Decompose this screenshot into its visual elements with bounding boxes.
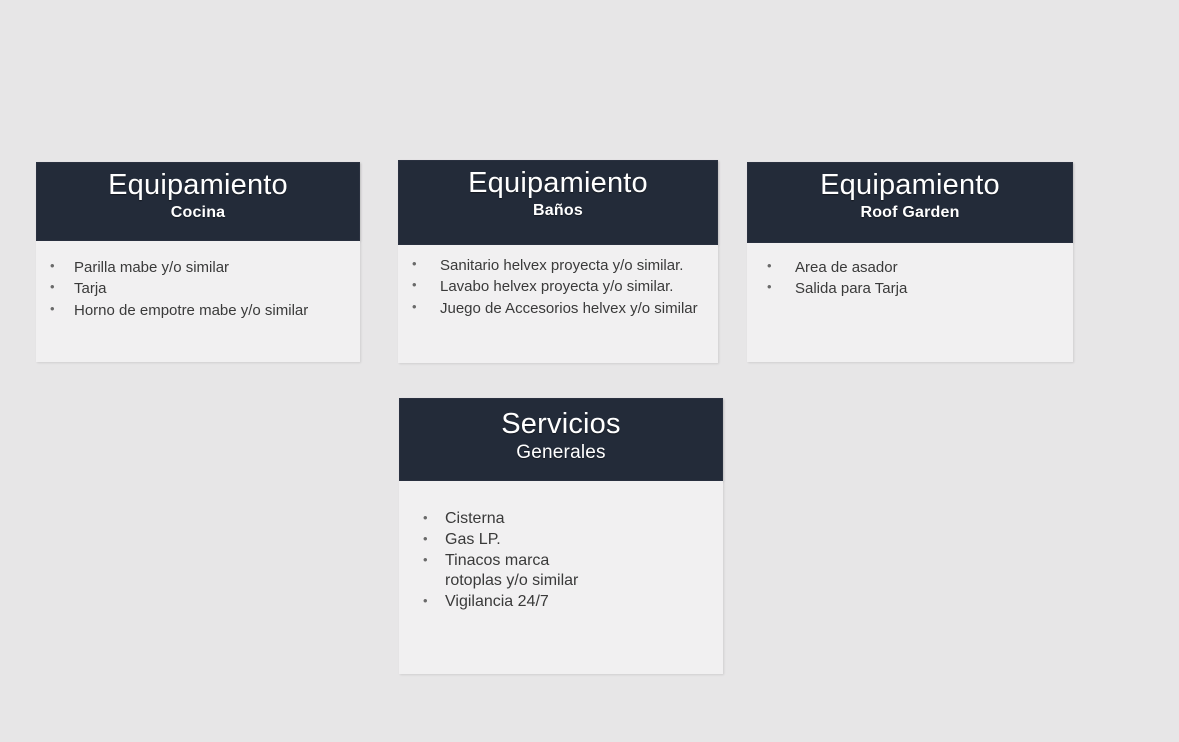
list-item-label: Lavabo helvex proyecta y/o similar. [440,276,710,297]
bullet-icon: • [412,255,440,273]
card-subtitle: Cocina [43,203,353,222]
list-item-label: Tinacos marca [445,551,709,572]
list-item-label: Gas LP. [445,530,709,551]
card-header-roof-garden: Equipamiento Roof Garden [747,162,1073,243]
card-header-servicios: Servicios Generales [399,398,723,481]
bullet-icon: • [50,257,74,275]
list-item: • Tarja [50,278,346,299]
card-header-banos: Equipamiento Baños [398,160,718,245]
list-item-label: Vigilancia 24/7 [445,592,709,613]
list-item-label: Horno de empotre mabe y/o similar [74,300,346,321]
bullet-icon: • [423,551,445,569]
list-item-label: Sanitario helvex proyecta y/o similar. [440,255,710,276]
card-title: Equipamiento [405,167,711,200]
list-item: • Parilla mabe y/o similar [50,257,346,278]
card-body-roof-garden: • Area de asador • Salida para Tarja [747,243,1073,362]
card-body-banos: • Sanitario helvex proyecta y/o similar.… [398,245,718,363]
card-equipamiento-banos: Equipamiento Baños • Sanitario helvex pr… [398,160,718,363]
list-item-label: Tarja [74,278,346,299]
list-item: • Sanitario helvex proyecta y/o similar. [412,255,710,276]
list-item: • Tinacos marca [423,551,709,572]
card-equipamiento-cocina: Equipamiento Cocina • Parilla mabe y/o s… [36,162,360,362]
bullet-icon: • [412,298,440,316]
list-item-label: rotoplas y/o similar [445,571,709,592]
list-item-label: Parilla mabe y/o similar [74,257,346,278]
bullet-icon: • [50,300,74,318]
bullet-icon: • [423,592,445,610]
bullet-icon: • [767,278,795,296]
card-title: Equipamiento [43,169,353,202]
list-item: • Area de asador [767,257,1059,278]
bullet-list: • Sanitario helvex proyecta y/o similar.… [412,255,710,319]
card-equipamiento-roof-garden: Equipamiento Roof Garden • Area de asado… [747,162,1073,362]
list-item: • Lavabo helvex proyecta y/o similar. [412,276,710,297]
list-item: • Horno de empotre mabe y/o similar [50,300,346,321]
card-title: Equipamiento [754,169,1066,202]
card-body-cocina: • Parilla mabe y/o similar • Tarja • Hor… [36,241,360,362]
list-item-continuation: • rotoplas y/o similar [423,571,709,592]
list-item-label: Area de asador [795,257,1059,278]
list-item-label: Juego de Accesorios helvex y/o similar [440,298,710,319]
list-item-label: Salida para Tarja [795,278,1059,299]
card-subtitle: Roof Garden [754,203,1066,222]
bullet-icon: • [50,278,74,296]
list-item: • Juego de Accesorios helvex y/o similar [412,298,710,319]
card-subtitle: Generales [406,442,716,465]
bullet-list: • Parilla mabe y/o similar • Tarja • Hor… [50,257,346,321]
list-item-label: Cisterna [445,509,709,530]
bullet-icon: • [423,530,445,548]
card-title: Servicios [406,408,716,441]
card-subtitle: Baños [405,201,711,220]
list-item: • Gas LP. [423,530,709,551]
slide-canvas: Equipamiento Cocina • Parilla mabe y/o s… [0,0,1179,742]
card-body-servicios: • Cisterna • Gas LP. • Tinacos marca • r… [399,481,723,674]
bullet-list: • Area de asador • Salida para Tarja [767,257,1059,300]
bullet-list: • Cisterna • Gas LP. • Tinacos marca • r… [423,509,709,613]
list-item: • Cisterna [423,509,709,530]
list-item: • Salida para Tarja [767,278,1059,299]
bullet-icon: • [423,509,445,527]
bullet-icon: • [412,276,440,294]
list-item: • Vigilancia 24/7 [423,592,709,613]
bullet-icon: • [767,257,795,275]
card-header-cocina: Equipamiento Cocina [36,162,360,241]
card-servicios-generales: Servicios Generales • Cisterna • Gas LP.… [399,398,723,674]
